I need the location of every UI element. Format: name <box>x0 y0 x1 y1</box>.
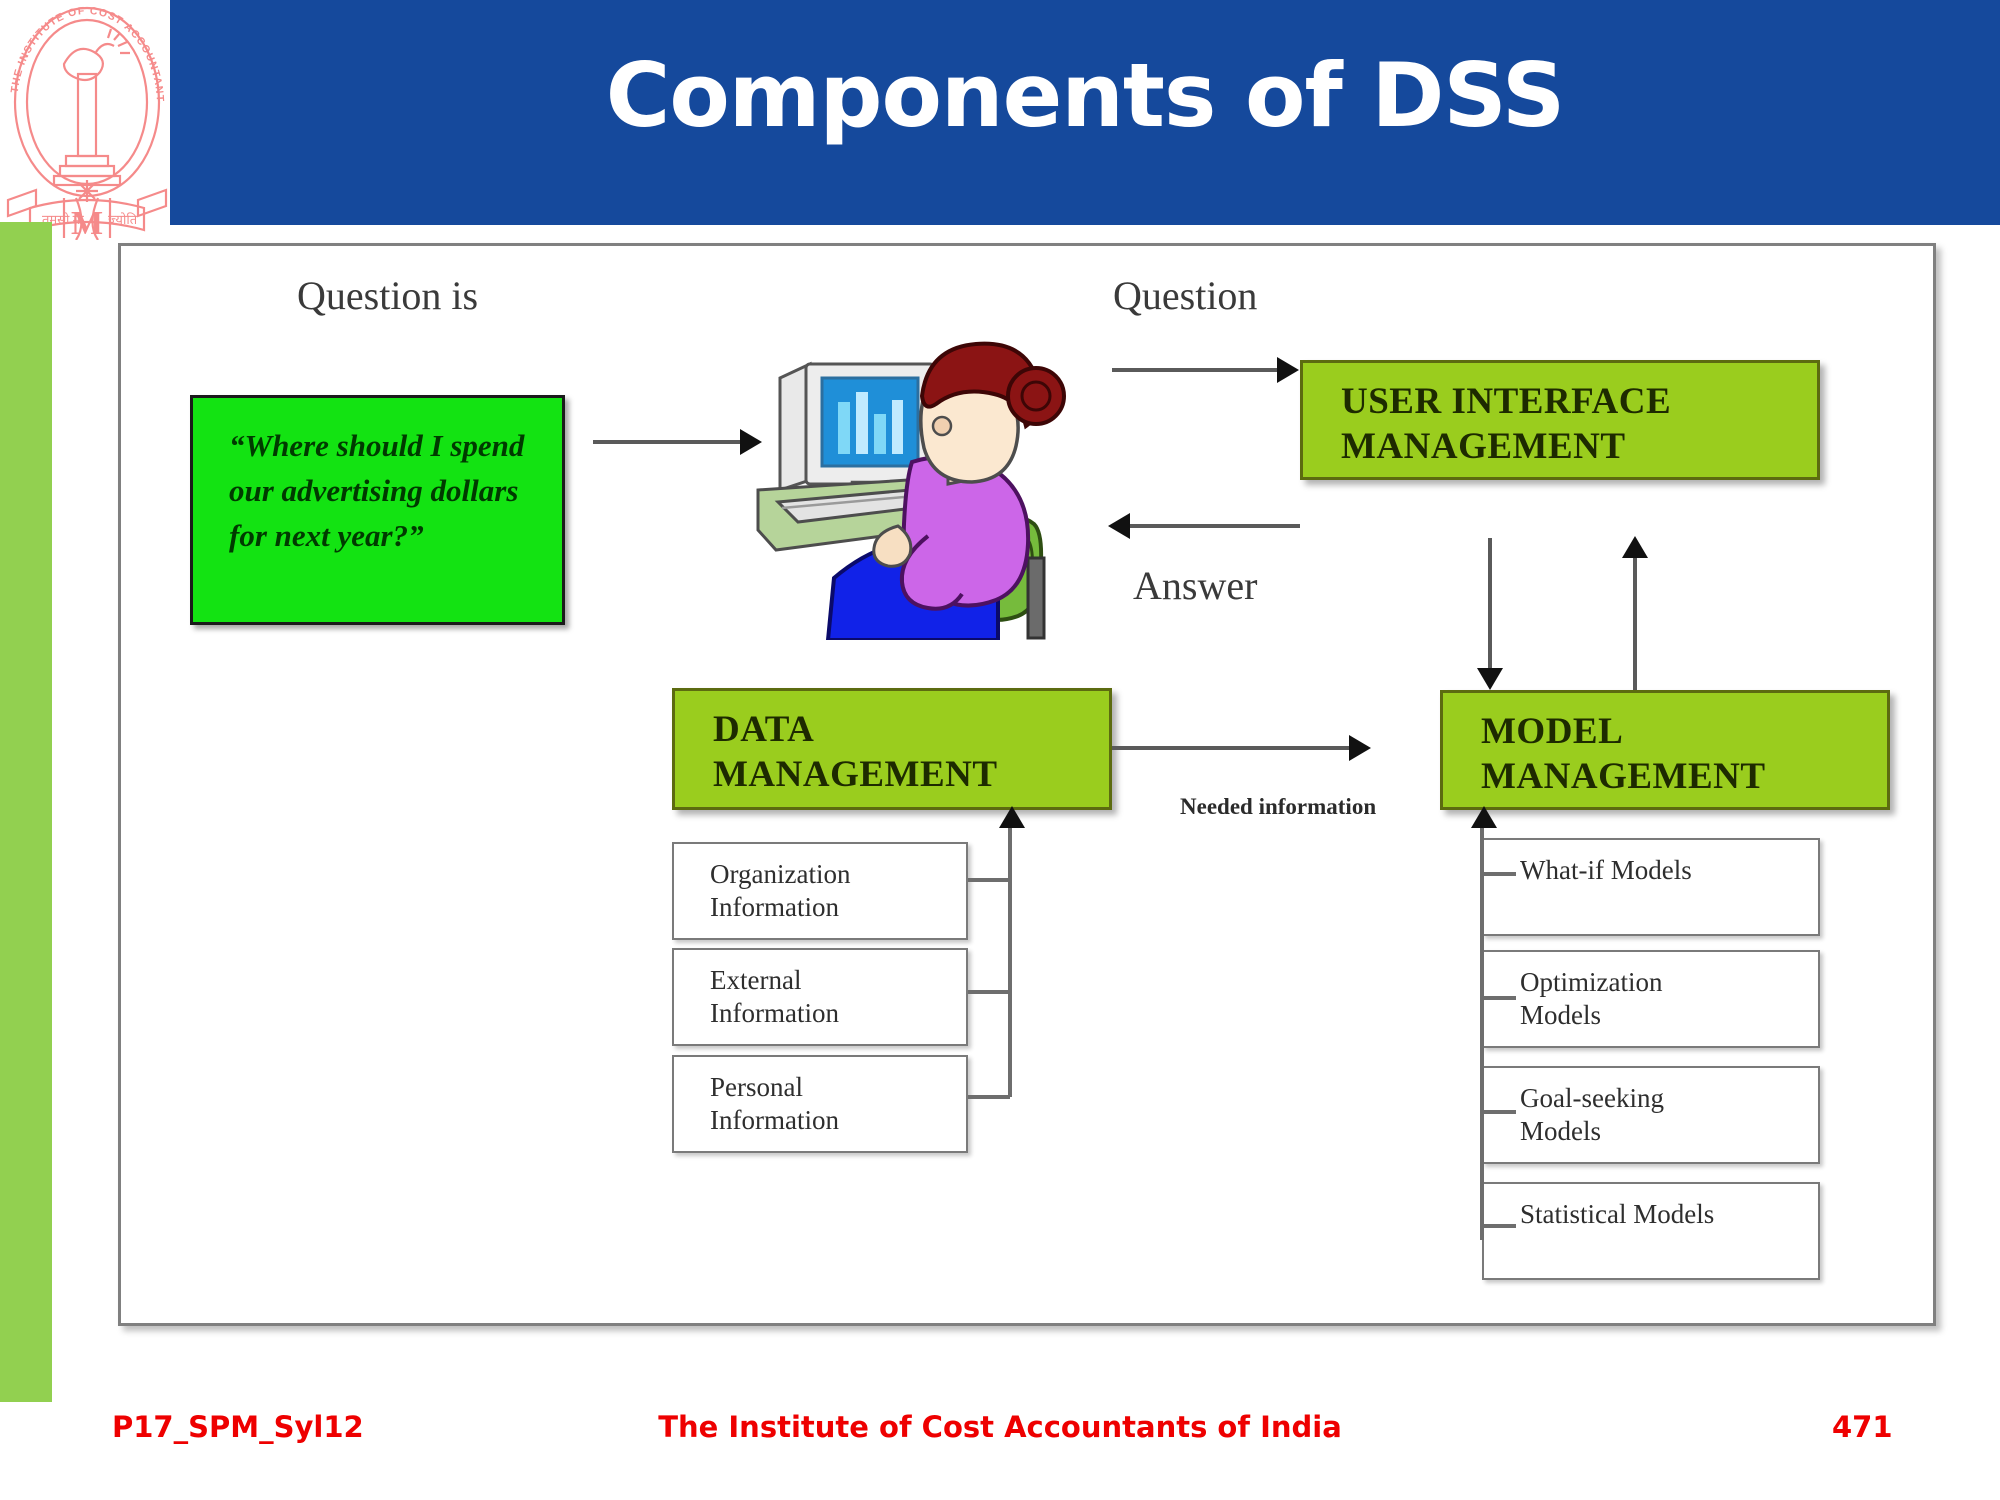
arrow-line-question-to-ui <box>1112 368 1280 372</box>
user-interface-management-box: USER INTERFACE MANAGEMENT <box>1300 360 1820 480</box>
model-management-box: MODEL MANAGEMENT <box>1440 690 1890 810</box>
woman-at-computer-illustration <box>752 330 1072 640</box>
bracket-branch-organization <box>968 878 1010 882</box>
bracket-branch-what-if <box>1480 872 1516 876</box>
label-question-is: Question is <box>297 272 478 319</box>
bracket-branch-goal-seeking <box>1480 1110 1516 1114</box>
arrow-head-model-to-ui <box>1622 536 1648 558</box>
page-title: Components of DSS <box>170 48 2000 145</box>
footer-page-number: 471 <box>1832 1410 1893 1444</box>
arrow-head-model-types-to-model-management <box>1471 806 1497 828</box>
data-source-external-line1: External <box>710 964 966 997</box>
data-source-external-line2: Information <box>710 997 966 1030</box>
data-source-box-personal: Personal Information <box>672 1055 968 1153</box>
model-type-what-if-line1: What-if Models <box>1520 854 1818 887</box>
arrow-head-ui-to-model <box>1477 668 1503 690</box>
model-type-optimization-line1: Optimization <box>1520 966 1818 999</box>
arrow-line-data-to-model <box>1112 746 1352 750</box>
bracket-spine-data-sources <box>1008 818 1012 1097</box>
question-text: “Where should I spend our advertising do… <box>229 424 539 559</box>
model-type-optimization-line2: Models <box>1520 999 1818 1032</box>
model-type-box-statistical: Statistical Models <box>1482 1182 1820 1280</box>
model-management-line2: MANAGEMENT <box>1481 754 1887 799</box>
arrow-line-question-to-user <box>593 440 743 444</box>
arrow-line-answer-to-user <box>1130 524 1300 528</box>
arrow-head-answer-to-user <box>1108 513 1130 539</box>
slide-footer: P17_SPM_Syl12 The Institute of Cost Acco… <box>0 1402 2000 1472</box>
model-type-box-optimization: Optimization Models <box>1482 950 1820 1048</box>
label-question: Question <box>1113 272 1257 319</box>
arrow-line-model-to-ui <box>1633 548 1637 694</box>
svg-text:ज्योति: ज्योति <box>108 212 138 227</box>
user-interface-management-line1: USER INTERFACE <box>1341 379 1817 424</box>
label-needed-information: Needed information <box>1180 793 1380 822</box>
data-source-box-organization: Organization Information <box>672 842 968 940</box>
model-management-line1: MODEL <box>1481 709 1887 754</box>
user-interface-management-line2: MANAGEMENT <box>1341 424 1817 469</box>
arrow-head-data-sources-to-data-management <box>999 806 1025 828</box>
bracket-spine-model-types <box>1480 820 1484 1240</box>
institute-logo-icon: M तमसो मा ज्योति THE INSTITUTE OF COST A… <box>4 2 170 240</box>
left-accent-strip <box>0 222 52 1402</box>
data-source-organization-line2: Information <box>710 891 966 924</box>
data-management-box: DATA MANAGEMENT <box>672 688 1112 810</box>
data-source-box-external: External Information <box>672 948 968 1046</box>
arrow-head-question-to-ui <box>1277 357 1299 383</box>
model-type-statistical-line1: Statistical Models <box>1520 1198 1818 1231</box>
arrow-head-data-to-model <box>1349 735 1371 761</box>
slide-root: M तमसो मा ज्योति THE INSTITUTE OF COST A… <box>0 0 2000 1500</box>
arrow-line-ui-to-model <box>1488 538 1492 686</box>
model-type-goal-seeking-line1: Goal-seeking <box>1520 1082 1818 1115</box>
model-type-goal-seeking-line2: Models <box>1520 1115 1818 1148</box>
bracket-branch-personal <box>968 1095 1010 1099</box>
bracket-branch-optimization <box>1480 996 1516 1000</box>
label-answer: Answer <box>1133 562 1257 609</box>
logo-area: M तमसो मा ज्योति THE INSTITUTE OF COST A… <box>0 0 170 240</box>
data-source-personal-line1: Personal <box>710 1071 966 1104</box>
data-source-organization-line1: Organization <box>710 858 966 891</box>
question-box: “Where should I spend our advertising do… <box>190 395 565 625</box>
bracket-branch-statistical <box>1480 1224 1516 1228</box>
model-type-box-what-if: What-if Models <box>1482 838 1820 936</box>
data-source-personal-line2: Information <box>710 1104 966 1137</box>
footer-institute-name: The Institute of Cost Accountants of Ind… <box>0 1410 2000 1444</box>
data-management-line2: MANAGEMENT <box>713 752 1109 797</box>
model-type-box-goal-seeking: Goal-seeking Models <box>1482 1066 1820 1164</box>
bracket-branch-external <box>968 990 1010 994</box>
data-management-line1: DATA <box>713 707 1109 752</box>
